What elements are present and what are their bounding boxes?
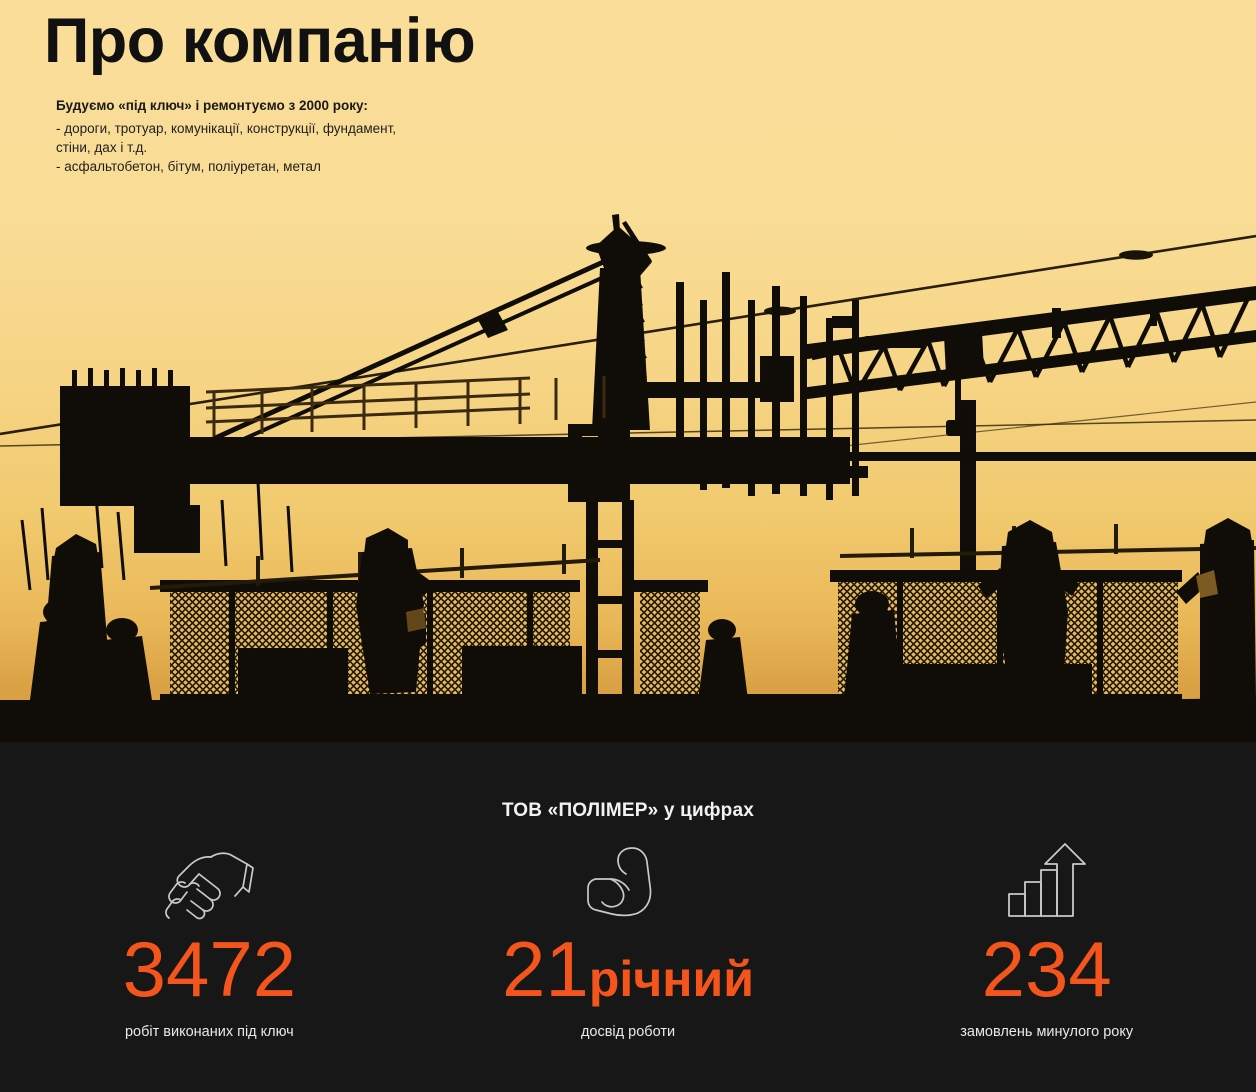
flexed-bicep-icon — [586, 840, 670, 920]
stats-section-title: ТОВ «ПОЛІМЕР» у цифрах — [0, 742, 1256, 822]
about-company-page: Про компанію Будуємо «під ключ» і ремонт… — [0, 0, 1256, 1092]
stat-label: замовлень минулого року — [960, 1024, 1133, 1040]
construction-site-silhouette-illustration — [0, 0, 1256, 742]
stat-number: 234 — [982, 930, 1112, 1008]
stats-section: ТОВ «ПОЛІМЕР» у цифрах — [0, 742, 1256, 1092]
stat-value: 234 — [982, 930, 1112, 1008]
handshake-icon — [159, 840, 259, 920]
stat-label: досвід роботи — [581, 1024, 675, 1040]
stat-card-orders-last-year: 234 замовлень минулого року — [837, 840, 1256, 1040]
stat-number: 3472 — [123, 930, 297, 1008]
stat-value: 21 річний — [502, 930, 754, 1008]
hero-banner: Про компанію Будуємо «під ключ» і ремонт… — [0, 0, 1256, 742]
stat-card-experience: 21 річний досвід роботи — [419, 840, 838, 1040]
stat-label: робіт виконаних під ключ — [125, 1024, 294, 1040]
stat-value: 3472 — [123, 930, 297, 1008]
stats-row: 3472 робіт виконаних під ключ 21 — [0, 840, 1256, 1040]
growth-chart-arrow-icon — [1005, 840, 1089, 920]
stat-number: 21 — [502, 930, 589, 1008]
stat-suffix: річний — [589, 954, 754, 1004]
stat-card-works-completed: 3472 робіт виконаних під ключ — [0, 840, 419, 1040]
